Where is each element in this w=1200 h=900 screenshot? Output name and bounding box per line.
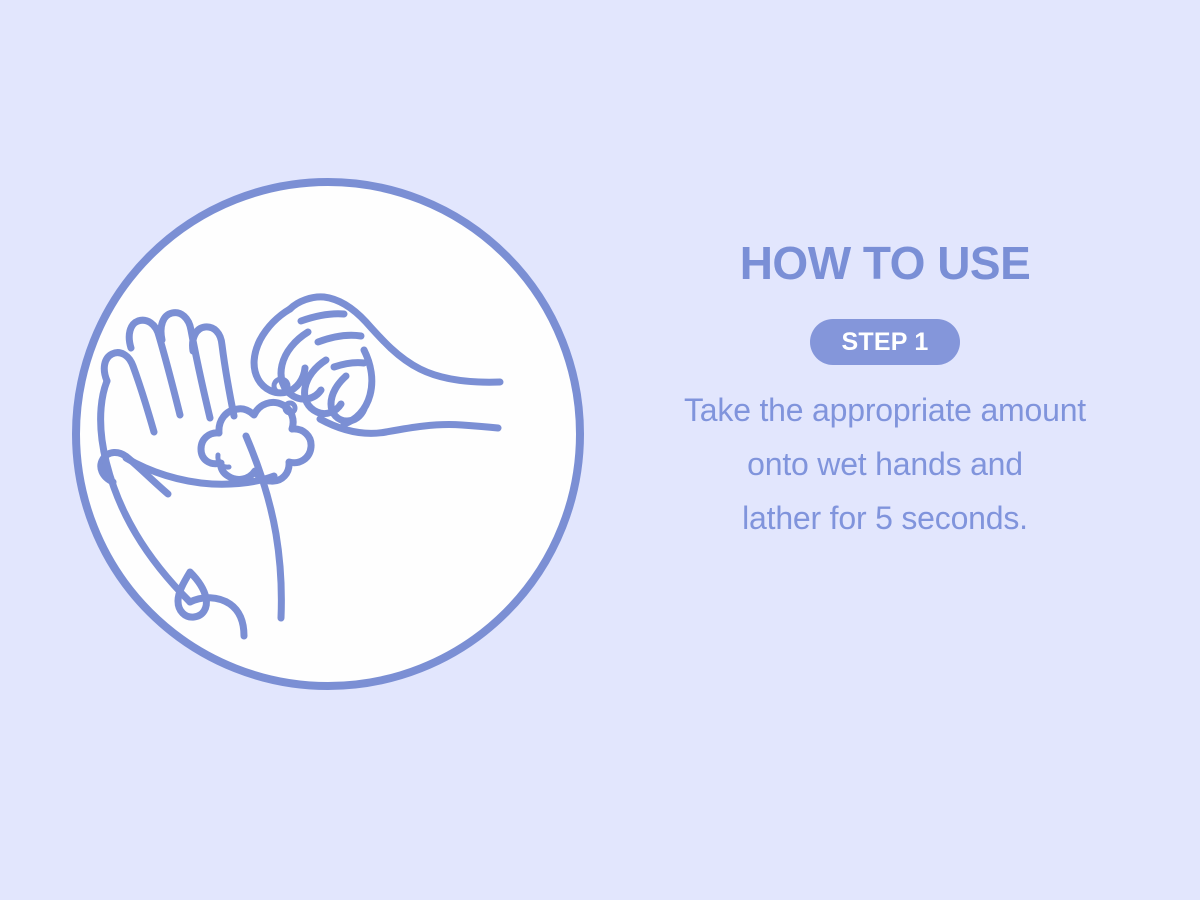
instruction-line-1: Take the appropriate amount — [600, 383, 1170, 437]
how-to-use-poster: HOW TO USE STEP 1 Take the appropriate a… — [0, 0, 1200, 900]
page-title: HOW TO USE — [600, 240, 1170, 286]
illustration-panel — [68, 174, 588, 694]
step-badge-row: STEP 1 — [600, 319, 1170, 365]
instruction-line-2: onto wet hands and — [600, 437, 1170, 491]
hand-washing-illustration — [68, 174, 588, 694]
instruction-line-3: lather for 5 seconds. — [600, 491, 1170, 545]
text-panel: HOW TO USE STEP 1 Take the appropriate a… — [600, 240, 1170, 545]
instruction-text: Take the appropriate amount onto wet han… — [600, 383, 1170, 545]
status-badge: STEP 1 — [810, 319, 960, 365]
